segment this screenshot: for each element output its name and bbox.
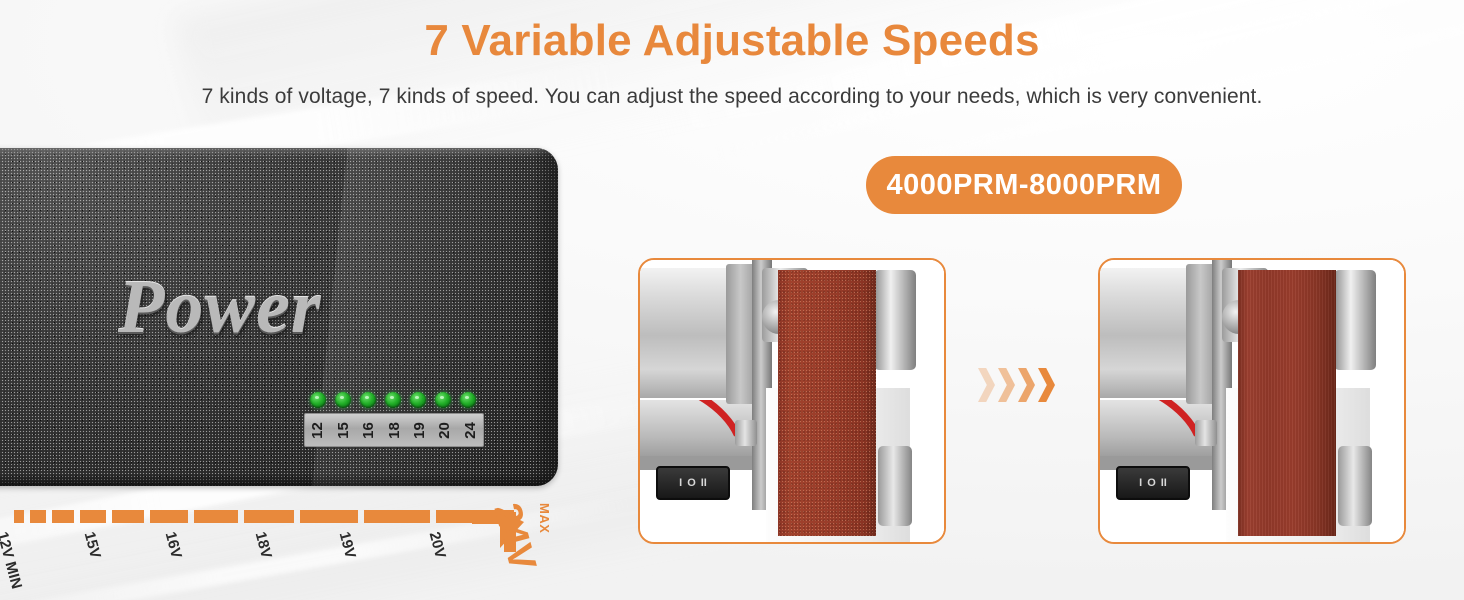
scale-dash — [52, 510, 74, 523]
power-rocker-switch[interactable]: I O II — [656, 466, 730, 500]
scale-dash — [14, 510, 24, 523]
sander-photo: I O II — [640, 260, 944, 542]
scale-dash — [300, 510, 358, 523]
switch-mark-o: O — [687, 478, 696, 489]
plate-label: 19 — [411, 422, 428, 439]
photo-panel-belt-spinning: I O II — [1098, 258, 1406, 544]
sanding-belt — [1238, 270, 1336, 536]
led-indicator-12 — [310, 392, 326, 408]
device-brand-text: Power — [118, 264, 321, 351]
motion-chevron-icon — [1018, 368, 1035, 402]
scale-dash — [244, 510, 294, 523]
plate-cell-15: 15 — [330, 414, 355, 446]
scale-dash — [112, 510, 144, 523]
scale-tick-20v: 20V — [426, 530, 449, 560]
max-label: MAX — [537, 503, 552, 533]
sander-roller-top — [874, 270, 916, 370]
plate-cell-16: 16 — [356, 414, 381, 446]
page-subtitle: 7 kinds of voltage, 7 kinds of speed. Yo… — [0, 85, 1464, 109]
sander-roller-bottom — [878, 446, 912, 526]
led-indicator-19 — [410, 392, 426, 408]
scale-dash — [30, 510, 46, 523]
led-indicator-24 — [460, 392, 476, 408]
scale-tick-15v: 15V — [81, 530, 104, 560]
led-indicator-20 — [435, 392, 451, 408]
plate-label: 18 — [385, 422, 402, 439]
scale-dash — [364, 510, 430, 523]
motion-chevron-icon — [998, 368, 1015, 402]
max-voltage-group: MAX 24V — [512, 497, 572, 597]
switch-mark-i: I — [679, 478, 682, 489]
plate-cell-19: 19 — [407, 414, 432, 446]
sander-roller-bottom — [1338, 446, 1372, 526]
motion-chevron-icon — [978, 368, 995, 402]
switch-mark-ii: II — [701, 478, 707, 489]
led-indicator-15 — [335, 392, 351, 408]
plate-cell-18: 18 — [381, 414, 406, 446]
sander-roller-top — [1334, 270, 1376, 370]
scale-dash — [194, 510, 238, 523]
switch-mark-o: O — [1147, 478, 1156, 489]
scale-tick-16v: 16V — [162, 530, 185, 560]
switch-mark-ii: II — [1161, 478, 1167, 489]
led-indicator-18 — [385, 392, 401, 408]
rpm-range-badge: 4000PRM-8000PRM — [866, 156, 1182, 214]
plate-label: 20 — [436, 422, 453, 439]
sanding-belt — [778, 270, 876, 536]
scale-tick-12v-min: 12V MIN — [0, 530, 25, 591]
switch-mark-i: I — [1139, 478, 1142, 489]
plate-cell-12: 12 — [305, 414, 330, 446]
photo-panel-belt-static: I O II — [638, 258, 946, 544]
plate-label: 15 — [335, 422, 352, 439]
tension-knob — [1195, 420, 1217, 446]
voltage-label-plate: 12151618192024 — [304, 413, 484, 447]
scale-dash — [150, 510, 188, 523]
plate-label: 16 — [360, 422, 377, 439]
plate-cell-20: 20 — [432, 414, 457, 446]
page-title: 7 Variable Adjustable Speeds — [0, 16, 1464, 66]
plate-label: 24 — [462, 422, 479, 439]
voltage-scale-bar: 12V MIN15V16V18V19V20V — [0, 500, 560, 600]
led-indicator-row — [310, 392, 476, 408]
scale-dash — [80, 510, 106, 523]
motion-chevron-icon — [1038, 368, 1055, 402]
led-indicator-16 — [360, 392, 376, 408]
sander-photo: I O II — [1100, 260, 1404, 542]
tension-knob — [735, 420, 757, 446]
plate-label: 12 — [309, 422, 326, 439]
scale-tick-19v: 19V — [336, 530, 359, 560]
motion-arrow-group — [978, 368, 1055, 402]
power-rocker-switch[interactable]: I O II — [1116, 466, 1190, 500]
scale-tick-18v: 18V — [252, 530, 275, 560]
plate-cell-24: 24 — [458, 414, 483, 446]
